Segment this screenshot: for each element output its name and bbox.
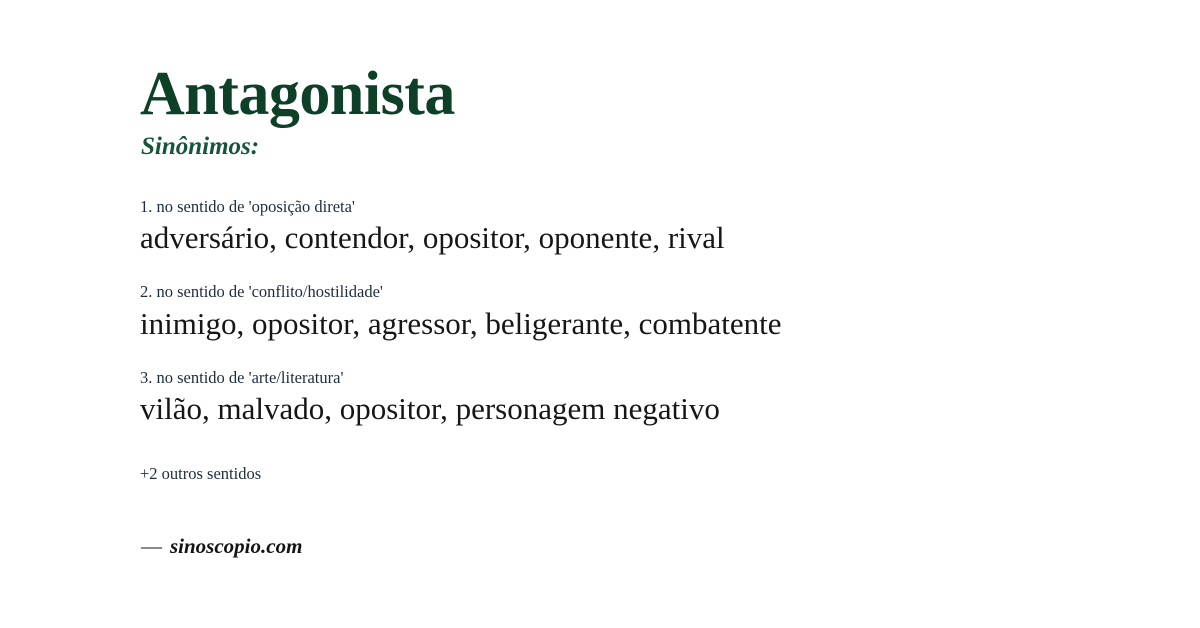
sense-entry: 3. no sentido de 'arte/literatura' vilão…	[140, 367, 1100, 430]
synonym-card: Antagonista Sinônimos: 1. no sentido de …	[140, 0, 1100, 628]
sense-label: 2. no sentido de 'conflito/hostilidade'	[140, 281, 1100, 302]
em-dash-glyph: —	[141, 534, 162, 558]
page-title: Antagonista	[140, 62, 455, 127]
sense-list: 1. no sentido de 'oposição direta' adver…	[140, 196, 1100, 452]
sense-entry: 2. no sentido de 'conflito/hostilidade' …	[140, 281, 1100, 344]
section-subtitle: Sinônimos:	[141, 133, 259, 161]
sense-synonyms: vilão, malvado, opositor, personagem neg…	[140, 389, 1100, 430]
source-attribution: —sinoscopio.com	[141, 534, 302, 559]
sense-synonyms: inimigo, opositor, agressor, beligerante…	[140, 304, 1100, 345]
sense-label: 1. no sentido de 'oposição direta'	[140, 196, 1100, 217]
sense-label: 3. no sentido de 'arte/literatura'	[140, 367, 1100, 388]
sense-synonyms: adversário, contendor, opositor, oponent…	[140, 218, 1100, 259]
source-site-name: sinoscopio.com	[170, 534, 302, 558]
sense-entry: 1. no sentido de 'oposição direta' adver…	[140, 196, 1100, 259]
more-senses-note: +2 outros sentidos	[140, 464, 261, 484]
